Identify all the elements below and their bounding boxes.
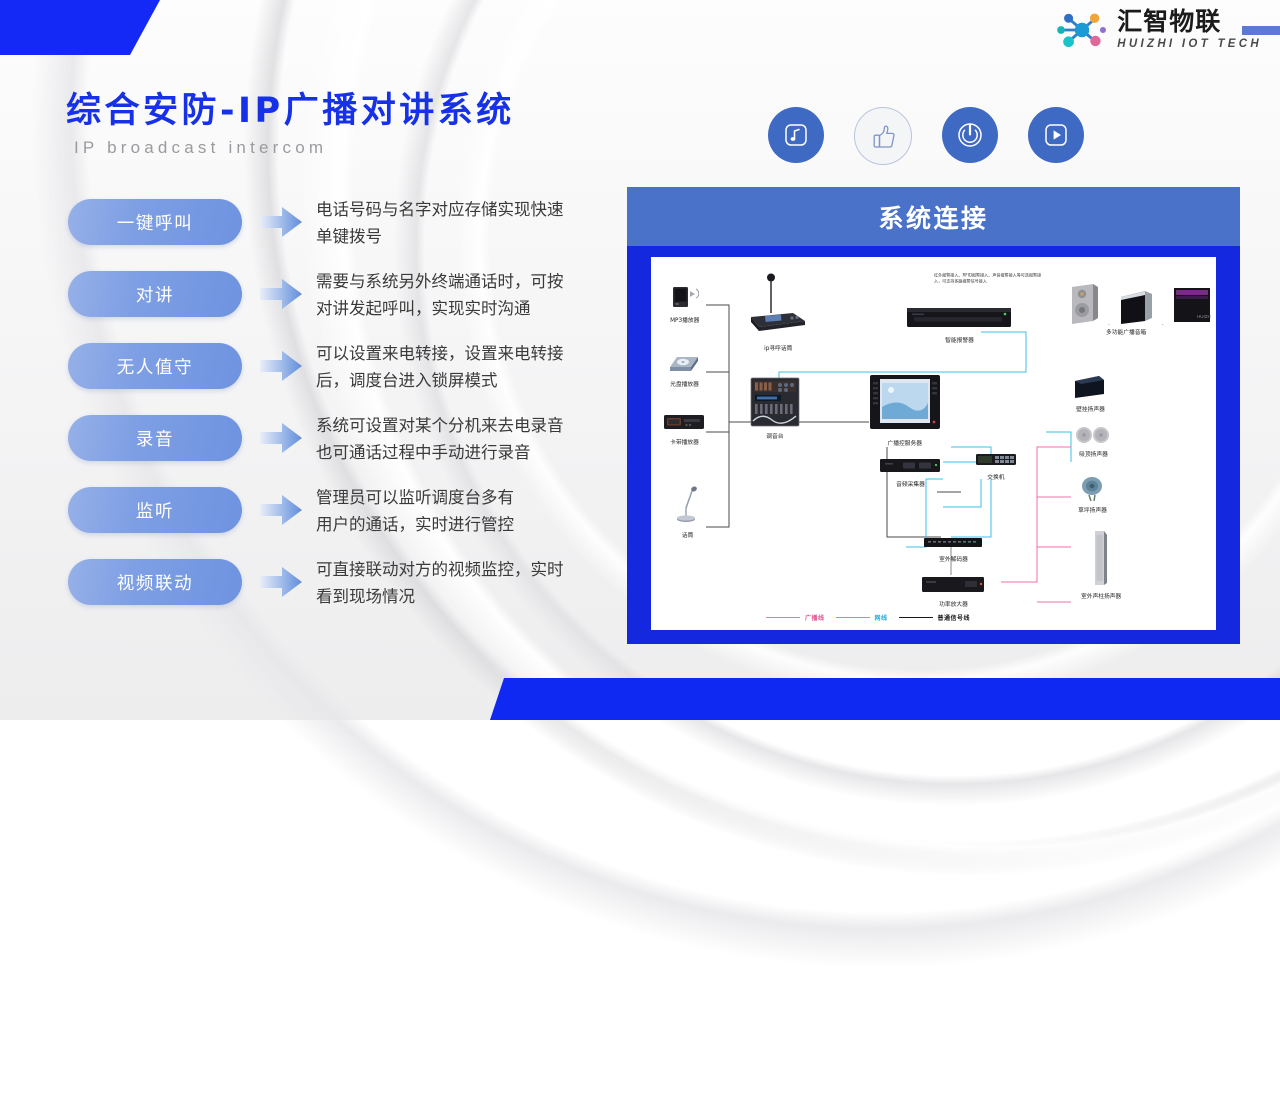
device-label: 广播控服务器 — [888, 440, 922, 448]
system-topology-diagram: 红外报警接入、RFID报警接入、声音报警接入等可选报警接入，可支持多路报警信号接… — [651, 257, 1216, 630]
device-switch: 交换机 — [975, 452, 1017, 480]
device-label: 光盘播放器 — [670, 381, 699, 389]
icon-button-row — [768, 107, 1084, 165]
wall-panel-speaker-icon: HUIZHI — [1173, 285, 1211, 329]
device-mp3: MP3播放器 — [671, 285, 699, 323]
device-tape: 卡带播放器 — [663, 411, 705, 445]
feature-label: 无人值守 — [117, 354, 193, 379]
cabinet-speaker-icon — [1069, 283, 1099, 329]
feature-pill-1[interactable]: 一键呼叫 — [68, 199, 242, 245]
device-outdoor-decoder: 室外解码器 — [923, 535, 983, 562]
arrow-right-icon — [258, 277, 304, 311]
multifunction-speaker-group: · · HUIZHI · — [1069, 279, 1216, 329]
feature-row: 对讲 需要与系统另外终端通话时，可按 对讲发起呼叫，实现实时沟通 — [68, 268, 628, 331]
arrow-right-icon — [258, 565, 304, 599]
device-cd: 光盘播放器 — [667, 351, 701, 387]
feature-line: 对讲发起呼叫，实现实时沟通 — [316, 296, 564, 323]
power-icon-button[interactable] — [942, 107, 998, 163]
feature-line: 可直接联动对方的视频监控，实时 — [316, 557, 564, 584]
outdoor-decoder-icon — [923, 535, 983, 554]
legend-swatch-signal-line — [899, 617, 933, 619]
device-label: 功率放大器 — [939, 601, 968, 609]
feature-description: 系统可设置对某个分机来去电录音 也可通话过程中手动进行录音 — [316, 412, 564, 466]
ceiling-speaker-icon — [1075, 425, 1111, 449]
flat-panel-speaker-icon — [1119, 287, 1153, 329]
device-outdoor-column-speaker: 室外声柱扬声器 — [1085, 529, 1117, 599]
feature-line: 需要与系统另外终端通话时，可按 — [316, 269, 564, 296]
feature-label: 视频联动 — [117, 570, 193, 595]
device-broadcast-server: 广播控服务器 — [869, 374, 941, 446]
music-note-icon-button[interactable] — [768, 107, 824, 163]
outdoor-column-speaker-icon — [1090, 529, 1112, 591]
diagram-legend: 广播线 网线 普通信号线 — [766, 613, 970, 622]
feature-line: 电话号码与名字对应存储实现快速 — [316, 197, 564, 224]
feature-label: 对讲 — [136, 282, 174, 307]
device-label: 调音台 — [766, 433, 783, 441]
ip-paging-mic-icon — [747, 273, 809, 343]
dot-separator: · — [1108, 322, 1110, 329]
play-icon-button[interactable] — [1028, 107, 1084, 163]
dot-separator: · — [1162, 322, 1164, 329]
device-label: 草坪扬声器 — [1078, 507, 1107, 515]
power-amplifier-icon — [921, 575, 985, 599]
device-label: MP3播放器 — [670, 317, 699, 325]
device-mixer: 调音台 — [750, 377, 800, 439]
smart-alarm-icon — [906, 305, 1012, 335]
feature-row: 视频联动 可直接联动对方的视频监控，实时 看到现场情况 — [68, 556, 628, 619]
legend-label: 广播线 — [805, 613, 825, 622]
arrow-right-icon — [258, 205, 304, 239]
tape-player-icon — [663, 411, 705, 437]
device-power-amp: 功率放大器 — [921, 575, 985, 607]
arrow-right-icon — [258, 421, 304, 455]
device-label: 卡带播放器 — [670, 439, 699, 447]
device-label: 音频采集器 — [896, 481, 925, 489]
device-wall-speaker: 壁挂扬声器 — [1073, 374, 1107, 412]
legend-swatch-broadcast-line — [766, 617, 800, 619]
feature-row: 监听 管理员可以监听调度台多有 用户的通话，实时进行管控 — [68, 484, 628, 547]
feature-pill-4[interactable]: 录音 — [68, 415, 242, 461]
network-switch-icon — [975, 452, 1017, 472]
broadcast-server-icon — [869, 374, 941, 438]
mixer-console-icon — [750, 377, 800, 431]
device-label: 多功能广播音箱 — [1106, 329, 1146, 337]
device-label: 壁挂扬声器 — [1076, 406, 1105, 414]
feature-description: 可直接联动对方的视频监控，实时 看到现场情况 — [316, 556, 564, 610]
legend-label: 普通信号线 — [938, 613, 971, 622]
wall-speaker-icon — [1073, 374, 1107, 404]
arrow-right-icon — [258, 493, 304, 527]
feature-pill-3[interactable]: 无人值守 — [68, 343, 242, 389]
page-title: 综合安防-IP广播对讲系统 — [66, 82, 515, 133]
feature-row: 一键呼叫 电话号码与名字对应存储实现快速 单键拨号 — [68, 196, 628, 259]
cd-player-icon — [667, 351, 701, 379]
brand-name-cn: 汇智物联 — [1117, 9, 1262, 34]
alarm-input-note: 红外报警接入、RFID报警接入、声音报警接入等可选报警接入，可支持多路报警信号接… — [934, 273, 1049, 285]
feature-line: 后，调度台进入锁屏模式 — [316, 368, 564, 395]
feature-description: 可以设置来电转接，设置来电转接 后，调度台进入锁屏模式 — [316, 340, 564, 394]
feature-list: 一键呼叫 电话号码与名字对应存储实现快速 单键拨号 对讲 需要与系统另外终端通话… — [68, 196, 628, 628]
molecule-network-icon — [1056, 8, 1108, 52]
feature-pill-6[interactable]: 视频联动 — [68, 559, 242, 605]
device-smart-alarm: 智能报警器 — [906, 305, 1012, 343]
audio-collector-icon — [879, 457, 941, 479]
thumbs-up-icon-button[interactable] — [854, 107, 912, 165]
page-subtitle: IP broadcast intercom — [74, 138, 327, 158]
legend-swatch-network-line — [836, 617, 870, 619]
microphone-icon — [673, 484, 703, 530]
feature-label: 录音 — [136, 426, 174, 451]
svg-text:HUIZHI: HUIZHI — [1197, 314, 1211, 319]
feature-description: 电话号码与名字对应存储实现快速 单键拨号 — [316, 196, 564, 250]
device-label: 室外声柱扬声器 — [1081, 593, 1121, 601]
feature-line: 可以设置来电转接，设置来电转接 — [316, 341, 564, 368]
panel-header: 系统连接 — [627, 187, 1240, 246]
feature-line: 也可通话过程中手动进行录音 — [316, 440, 564, 467]
feature-pill-2[interactable]: 对讲 — [68, 271, 242, 317]
device-label: 交换机 — [987, 474, 1004, 482]
device-label: 室外解码器 — [939, 556, 968, 564]
device-audio-collector: 音频采集器 — [879, 457, 941, 487]
device-mic: 话筒 — [673, 484, 703, 538]
system-connection-panel: 系统连接 — [627, 187, 1240, 644]
feature-description: 管理员可以监听调度台多有 用户的通话，实时进行管控 — [316, 484, 514, 538]
mp3-player-icon — [671, 285, 699, 315]
device-label: 话筒 — [682, 532, 694, 540]
device-ceiling-speaker: 吸顶扬声器 — [1075, 425, 1111, 457]
feature-row: 录音 系统可设置对某个分机来去电录音 也可通话过程中手动进行录音 — [68, 412, 628, 475]
brand-name-en: HUIZHI IOT TECH — [1117, 39, 1262, 51]
feature-line: 看到现场情况 — [316, 584, 564, 611]
bottom-right-accent-shape — [490, 678, 1280, 720]
panel-title: 系统连接 — [878, 199, 988, 235]
device-label: 智能报警器 — [945, 337, 974, 345]
brand-logo: 汇智物联 HUIZHI IOT TECH — [1056, 8, 1262, 52]
device-label: ip寻呼话筒 — [764, 345, 792, 353]
feature-label: 一键呼叫 — [117, 210, 193, 235]
feature-row: 无人值守 可以设置来电转接，设置来电转接 后，调度台进入锁屏模式 — [68, 340, 628, 403]
feature-line: 系统可设置对某个分机来去电录音 — [316, 413, 564, 440]
legend-label: 网线 — [875, 613, 888, 622]
arrow-right-icon — [258, 349, 304, 383]
device-ip-paging-mic: ip寻呼话筒 — [747, 273, 809, 351]
device-lawn-speaker: 草坪扬声器 — [1079, 475, 1105, 513]
feature-line: 单键拨号 — [316, 224, 564, 251]
panel-body: 红外报警接入、RFID报警接入、声音报警接入等可选报警接入，可支持多路报警信号接… — [651, 257, 1216, 630]
feature-pill-5[interactable]: 监听 — [68, 487, 242, 533]
lawn-speaker-icon — [1079, 475, 1105, 505]
feature-label: 监听 — [136, 498, 174, 523]
feature-line: 用户的通话，实时进行管控 — [316, 512, 514, 539]
feature-description: 需要与系统另外终端通话时，可按 对讲发起呼叫，实现实时沟通 — [316, 268, 564, 322]
device-label: 吸顶扬声器 — [1079, 451, 1108, 459]
feature-line: 管理员可以监听调度台多有 — [316, 485, 514, 512]
